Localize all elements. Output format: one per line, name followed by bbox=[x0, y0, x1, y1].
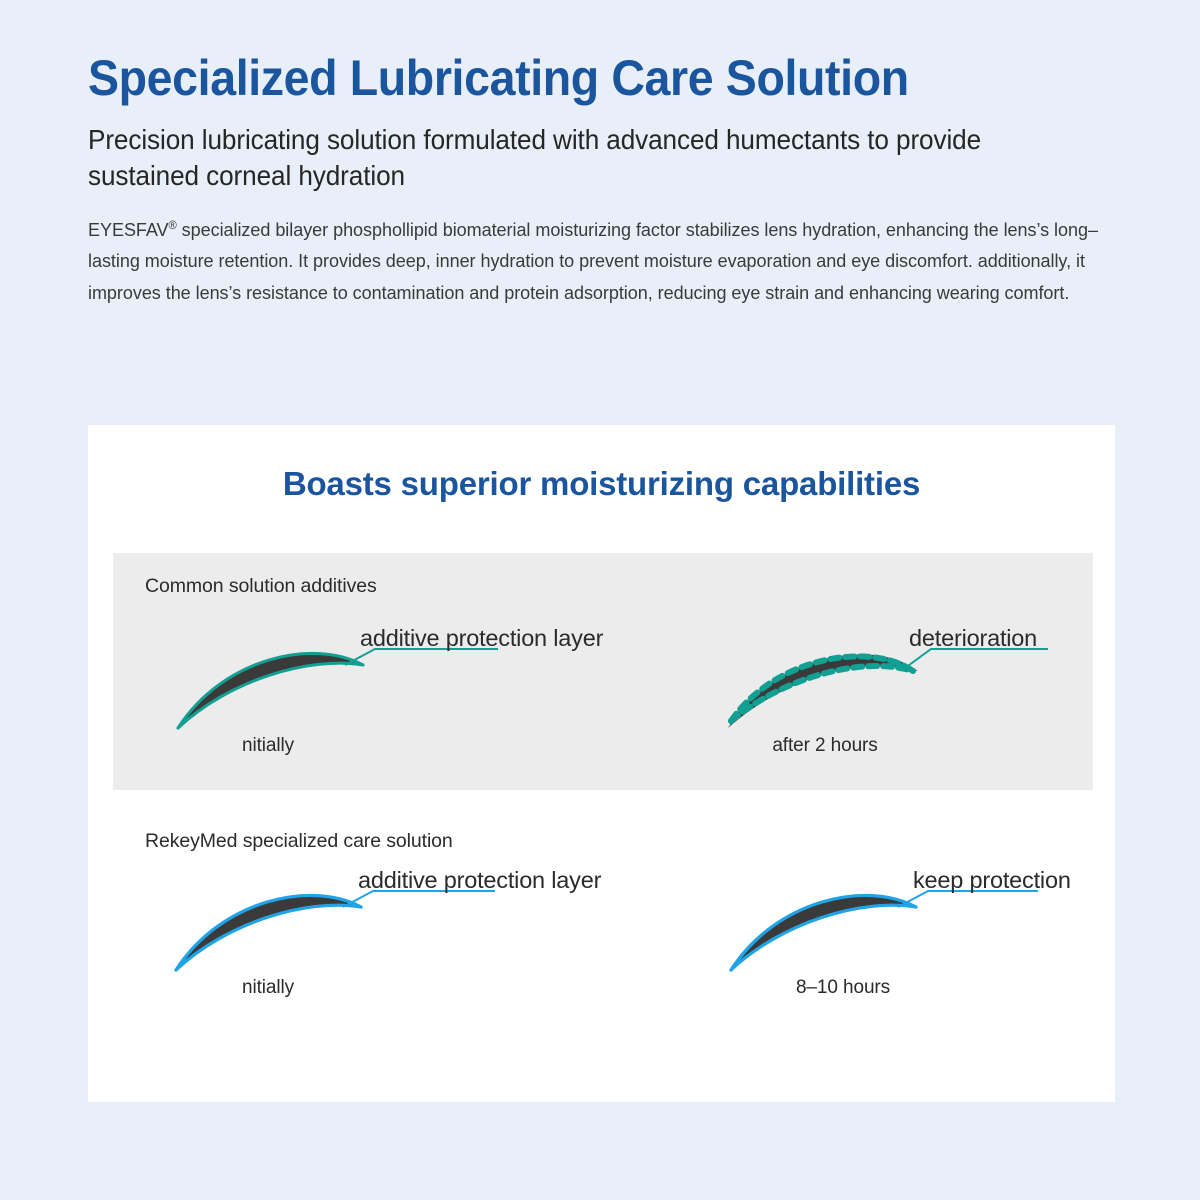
comparison-card: Boasts superior moisturizing capabilitie… bbox=[88, 425, 1115, 1102]
card-heading: Boasts superior moisturizing capabilitie… bbox=[88, 465, 1115, 503]
caption-after-2-hours: after 2 hours bbox=[772, 735, 877, 757]
lens-diagram-protected-rekeymed bbox=[113, 790, 1093, 1090]
page-header: Specialized Lubricating Care Solution Pr… bbox=[88, 52, 1148, 309]
caption-8-10-hours: 8–10 hours bbox=[796, 977, 890, 999]
panel-rekeymed-solution: RekeyMed specialized care solution addit… bbox=[113, 790, 1093, 1090]
page-subtitle: Precision lubricating solution formulate… bbox=[88, 122, 1095, 194]
callout-deterioration: deterioration bbox=[909, 625, 1037, 652]
panel-common-additives: Common solution additives additive prote… bbox=[113, 553, 1093, 790]
page-title: Specialized Lubricating Care Solution bbox=[88, 52, 1074, 104]
callout-keep-protection: keep protection bbox=[913, 867, 1071, 894]
callout-leader-line bbox=[901, 649, 1048, 671]
page-body-text: EYESFAV® specialized bilayer phosphollip… bbox=[88, 214, 1114, 310]
brand-name: EYESFAV bbox=[88, 219, 169, 240]
body-copy: specialized bilayer phosphollipid biomat… bbox=[88, 219, 1098, 304]
lens-diagram-deteriorated-common bbox=[113, 553, 1093, 790]
